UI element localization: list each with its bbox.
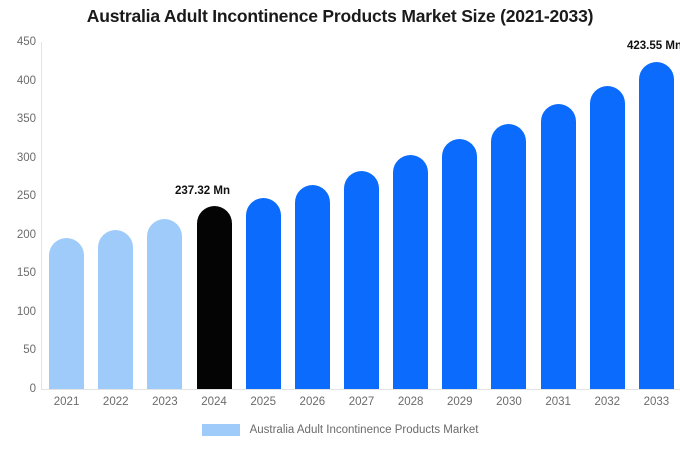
x-axis-tick: 2033	[639, 396, 674, 408]
bar-2025[interactable]	[246, 42, 281, 389]
chart-legend: Australia Adult Incontinence Products Ma…	[0, 424, 680, 436]
y-axis-tick: 250	[2, 190, 36, 202]
x-axis-tick: 2025	[246, 396, 281, 408]
bar-rect	[393, 155, 428, 389]
bar-2022[interactable]	[98, 42, 133, 389]
value-label-base-year: 237.32 Mn	[175, 185, 230, 197]
bar-2021[interactable]	[49, 42, 84, 389]
x-axis-tick: 2026	[295, 396, 330, 408]
bar-rect	[442, 139, 477, 389]
y-axis-tick: 150	[2, 267, 36, 279]
bar-rect	[491, 124, 526, 389]
bar-rect	[197, 206, 232, 389]
y-axis-tick-labels: 050100150200250300350400450	[0, 42, 36, 389]
bar-2028[interactable]	[393, 42, 428, 389]
bar-chart: Australia Adult Incontinence Products Ma…	[0, 0, 680, 450]
y-axis-tick: 0	[2, 383, 36, 395]
chart-title: Australia Adult Incontinence Products Ma…	[0, 6, 680, 27]
x-axis-tick: 2022	[98, 396, 133, 408]
bar-rect	[639, 62, 674, 389]
x-axis-tick: 2023	[147, 396, 182, 408]
bar-rect	[590, 86, 625, 389]
legend-color-swatch	[202, 424, 240, 436]
y-axis-tick: 350	[2, 113, 36, 125]
x-axis-tick: 2029	[442, 396, 477, 408]
bar-2032[interactable]	[590, 42, 625, 389]
legend-item[interactable]: Australia Adult Incontinence Products Ma…	[202, 424, 479, 436]
y-axis-tick: 400	[2, 75, 36, 87]
y-axis-tick: 50	[2, 344, 36, 356]
bar-rect	[344, 171, 379, 389]
bar-2026[interactable]	[295, 42, 330, 389]
x-axis-tick: 2030	[491, 396, 526, 408]
bar-2027[interactable]	[344, 42, 379, 389]
bar-2033[interactable]	[639, 42, 674, 389]
x-axis-tick: 2024	[197, 396, 232, 408]
bar-rect	[541, 104, 576, 389]
plot-area	[41, 42, 680, 389]
x-axis-tick: 2027	[344, 396, 379, 408]
x-axis-tick: 2032	[590, 396, 625, 408]
y-axis-tick: 300	[2, 152, 36, 164]
bar-rect	[147, 219, 182, 389]
bar-2029[interactable]	[442, 42, 477, 389]
y-axis-tick: 450	[2, 36, 36, 48]
bar-2031[interactable]	[541, 42, 576, 389]
x-axis-tick: 2021	[49, 396, 84, 408]
bar-rect	[49, 238, 84, 389]
bar-rect	[246, 198, 281, 389]
value-label-final-year: 423.55 Mn	[627, 40, 680, 52]
y-axis-tick: 200	[2, 229, 36, 241]
bar-2023[interactable]	[147, 42, 182, 389]
bar-rect	[295, 185, 330, 389]
bar-2030[interactable]	[491, 42, 526, 389]
bar-rect	[98, 230, 133, 389]
x-axis-tick: 2028	[393, 396, 428, 408]
legend-label: Australia Adult Incontinence Products Ma…	[250, 424, 479, 436]
x-axis-tick: 2031	[541, 396, 576, 408]
bar-2024[interactable]	[197, 42, 232, 389]
y-axis-tick: 100	[2, 306, 36, 318]
x-axis-line	[41, 389, 680, 390]
